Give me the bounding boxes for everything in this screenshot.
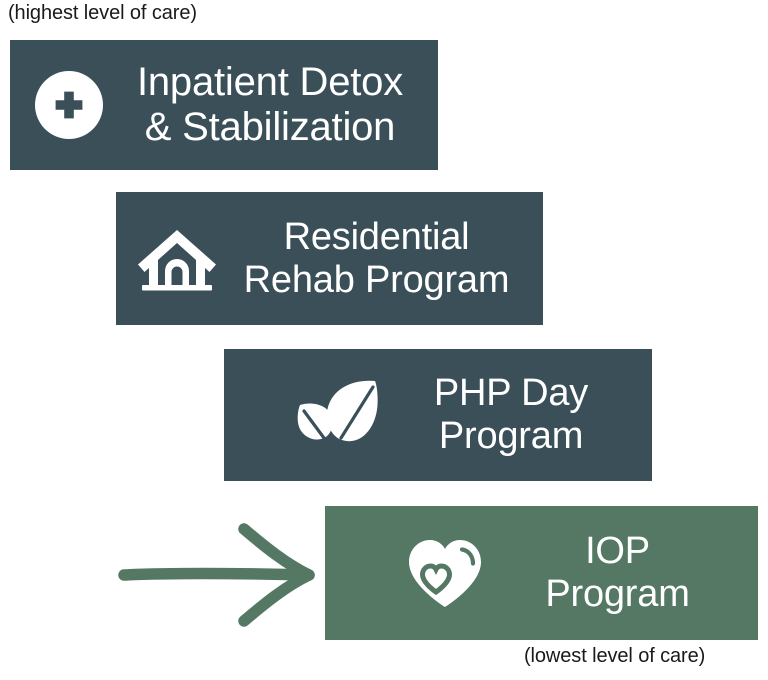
level-of-care-diagram: (highest level of care) Inpatient Detox … [0, 0, 768, 680]
step-residential-rehab[interactable]: Residential Rehab Program [116, 192, 543, 325]
highest-level-caption: (highest level of care) [8, 2, 197, 25]
heart-icon [403, 531, 487, 615]
step-label-php-day-program: PHP Day Program [380, 372, 652, 458]
step-php-day-program[interactable]: PHP Day Program [224, 349, 652, 481]
step-label-inpatient-detox: Inpatient Detox & Stabilization [112, 60, 438, 150]
leaves-icon [294, 375, 380, 455]
lowest-level-caption: (lowest level of care) [524, 645, 705, 668]
arrow-right-icon [118, 520, 323, 630]
medical-cross-circle-icon [26, 62, 112, 148]
step-label-residential-rehab: Residential Rehab Program [220, 216, 543, 302]
step-label-iop-program: IOP Program [487, 530, 758, 616]
step-iop-program[interactable]: IOP Program [325, 506, 758, 640]
house-icon [134, 216, 220, 302]
step-inpatient-detox[interactable]: Inpatient Detox & Stabilization [10, 40, 438, 170]
